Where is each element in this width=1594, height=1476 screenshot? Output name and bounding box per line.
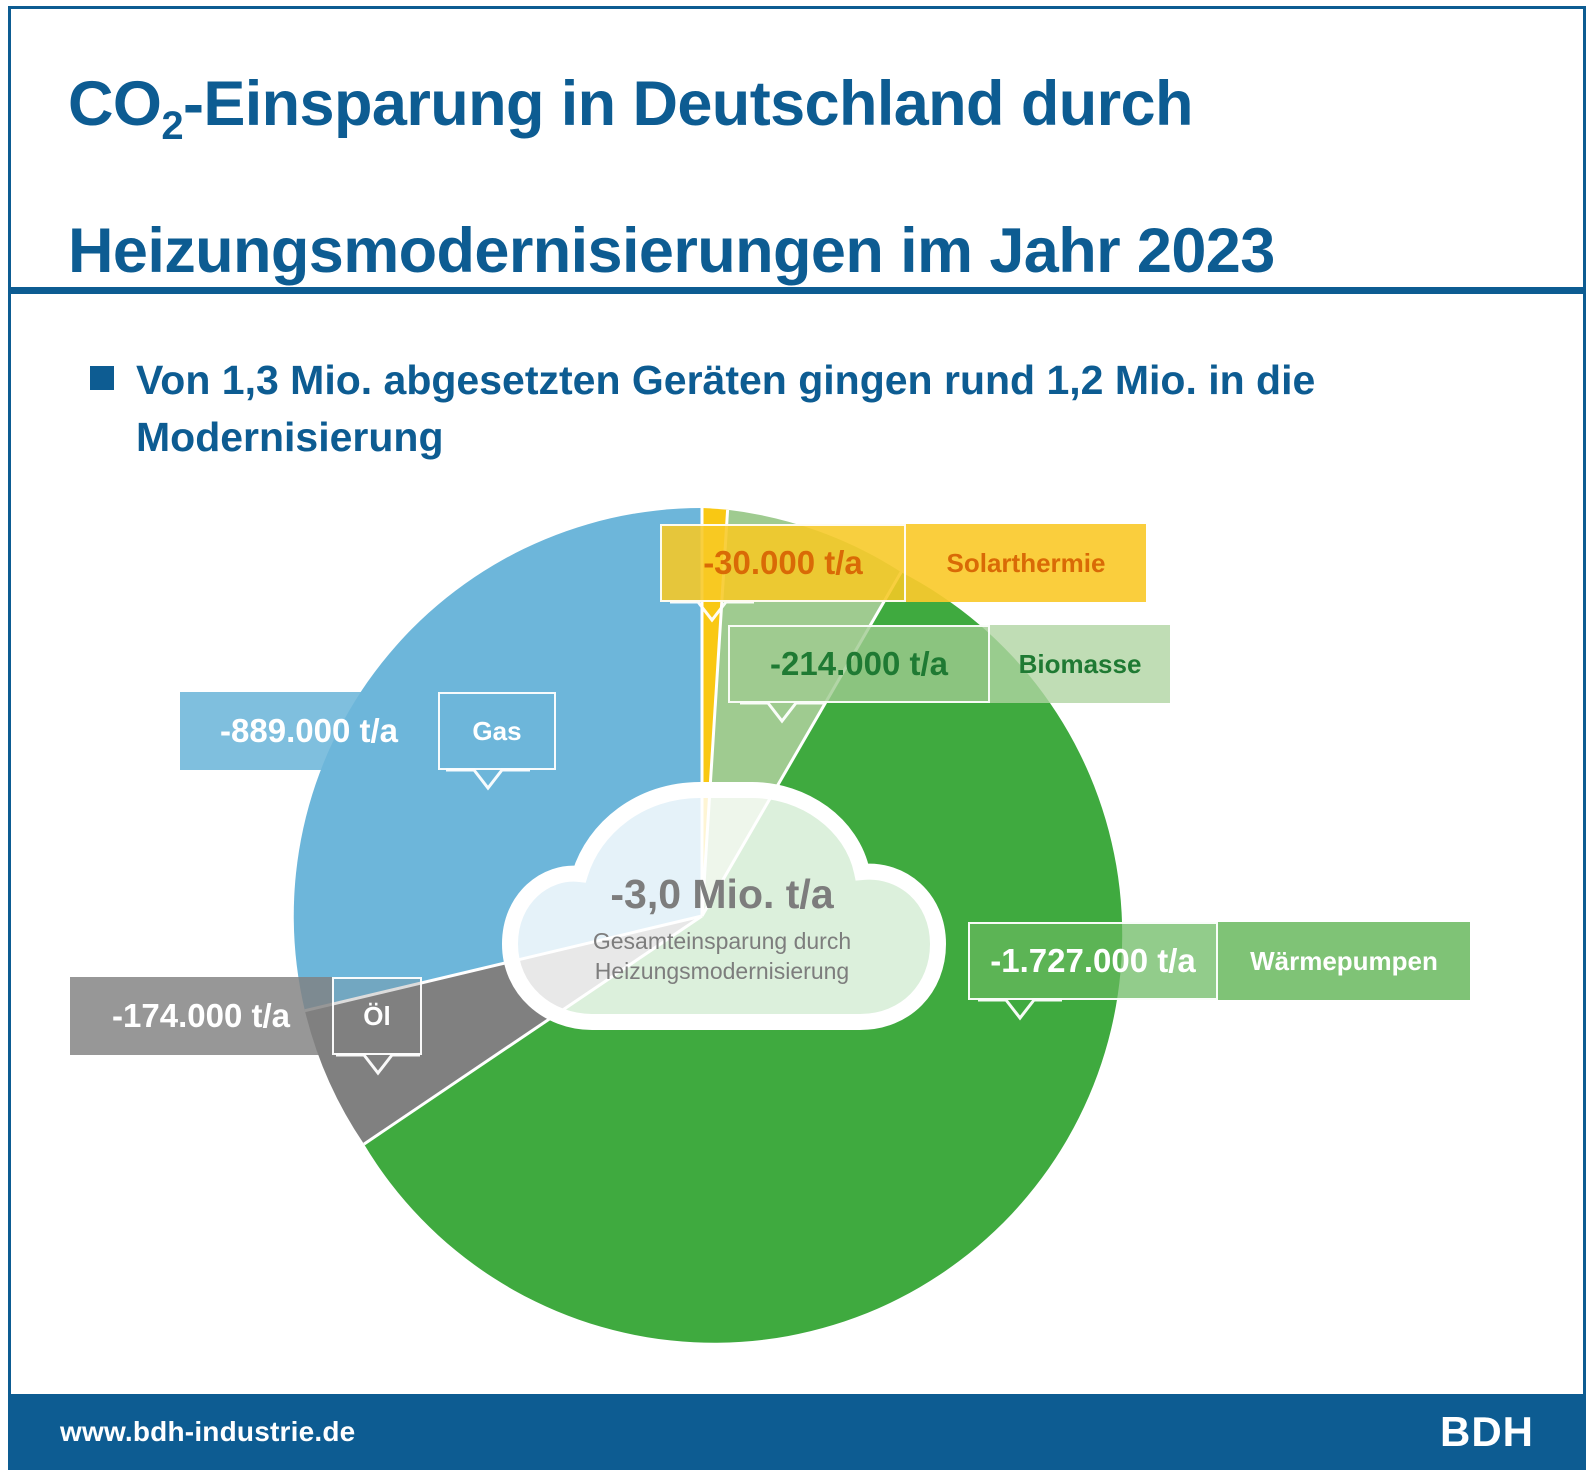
infographic-page: CO2-Einsparung in Deutschland durch Heiz… (0, 0, 1594, 1476)
callout-biomasse[interactable]: -214.000 t/a Biomasse (728, 625, 1170, 703)
callout-oel-value: -174.000 t/a (70, 977, 332, 1055)
footer: www.bdh-industrie.de BDH (8, 1394, 1586, 1470)
callout-gas-value: -889.000 t/a (180, 692, 438, 770)
callout-solarthermie[interactable]: -30.000 t/a Solarthermie (660, 524, 1146, 602)
pie-chart: -30.000 t/a Solarthermie -214.000 t/a Bi… (0, 0, 1594, 1410)
callout-waermepumpen-label: Wärmepumpen (1218, 922, 1470, 1000)
callout-solarthermie-label: Solarthermie (906, 524, 1146, 602)
footer-website-link[interactable]: www.bdh-industrie.de (60, 1416, 355, 1448)
callout-oel[interactable]: -174.000 t/a Öl (70, 977, 422, 1055)
callout-waermepumpen[interactable]: -1.727.000 t/a Wärmepumpen (968, 922, 1470, 1000)
callout-gas[interactable]: -889.000 t/a Gas (180, 692, 556, 770)
bdh-logo: BDH (1440, 1408, 1534, 1456)
callout-oel-label: Öl (332, 977, 422, 1055)
callout-solarthermie-value: -30.000 t/a (660, 524, 906, 602)
callout-biomasse-label: Biomasse (990, 625, 1170, 703)
callout-gas-label: Gas (438, 692, 556, 770)
callout-biomasse-value: -214.000 t/a (728, 625, 990, 703)
callout-waermepumpen-value: -1.727.000 t/a (968, 922, 1218, 1000)
